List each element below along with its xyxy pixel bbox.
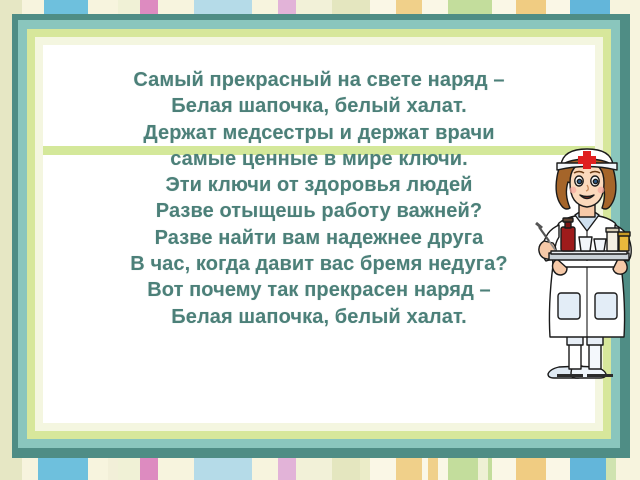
- content-panel: Самый прекрасный на свете наряд –Белая ш…: [43, 45, 595, 423]
- poem-line: Разве отыщешь работу важней?: [43, 198, 595, 224]
- poem-line: Самый прекрасный на свете наряд –: [43, 67, 595, 93]
- nurse-illustration: [533, 145, 640, 380]
- frame-border-cream: Самый прекрасный на свете наряд –Белая ш…: [35, 37, 603, 431]
- poem-line: Держат медсестры и держат врачи: [43, 120, 595, 146]
- poem-line: Белая шапочка, белый халат.: [43, 304, 595, 330]
- frame-border-green: Самый прекрасный на свете наряд –Белая ш…: [27, 29, 611, 439]
- poem-line: Белая шапочка, белый халат.: [43, 93, 595, 119]
- poem-text: Самый прекрасный на свете наряд –Белая ш…: [43, 67, 595, 330]
- poem-line: В час, когда давит вас бремя недуга?: [43, 251, 595, 277]
- poem-line: самые ценные в мире ключи.: [43, 146, 595, 172]
- poem-line: Разве найти вам надежнее друга: [43, 225, 595, 251]
- slide-canvas: Самый прекрасный на свете наряд –Белая ш…: [0, 0, 640, 480]
- frame-border-teal: Самый прекрасный на свете наряд –Белая ш…: [18, 20, 620, 448]
- poem-line: Вот почему так прекрасен наряд –: [43, 277, 595, 303]
- poem-line: Эти ключи от здоровья людей: [43, 172, 595, 198]
